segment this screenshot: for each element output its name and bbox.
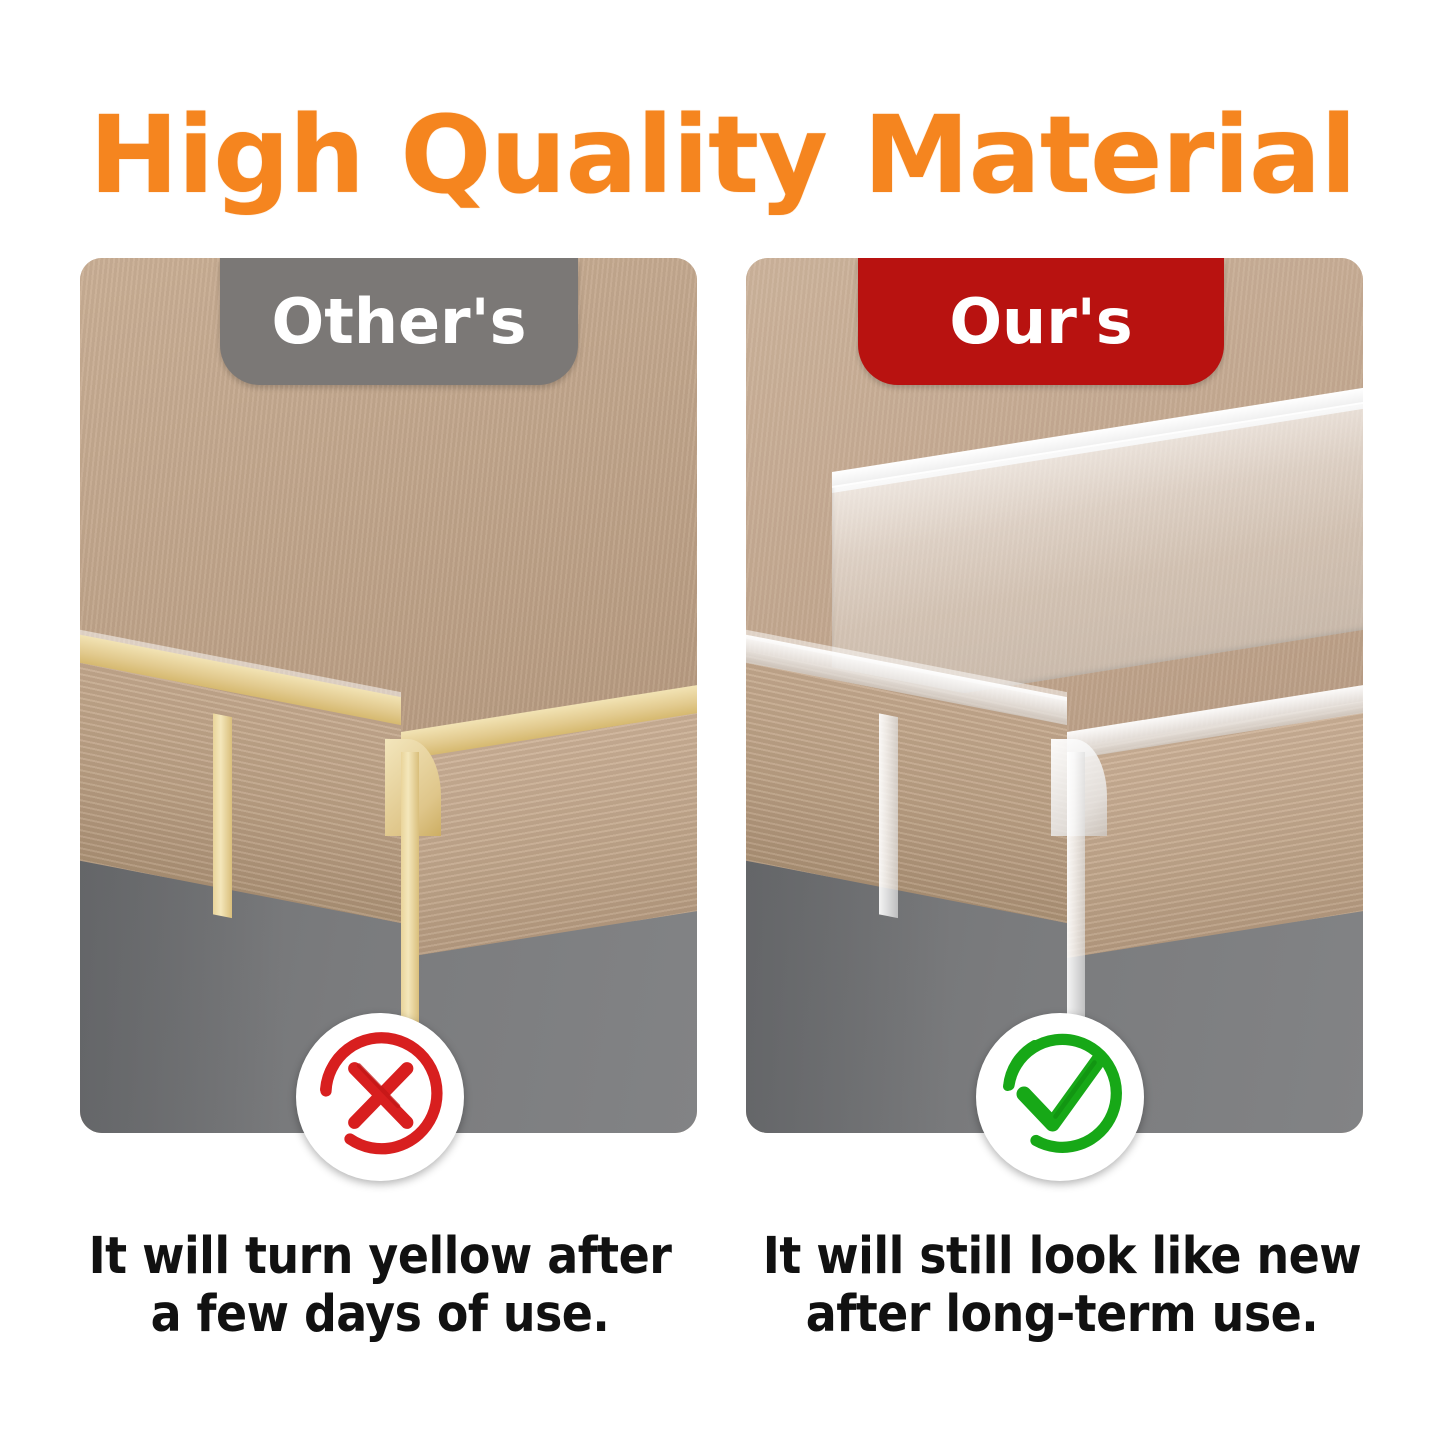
page-title: High Quality Material bbox=[0, 96, 1445, 216]
comparison-section: Other's Our's bbox=[80, 258, 1363, 1133]
caption-other-line1: It will turn yellow after bbox=[89, 1227, 672, 1286]
comparison-panel-our: Our's bbox=[746, 258, 1363, 1133]
check-icon bbox=[985, 1022, 1135, 1172]
caption-our: It will still look like new after long-t… bbox=[752, 1228, 1372, 1344]
caption-our-line1: It will still look like new bbox=[763, 1227, 1361, 1286]
caption-other: It will turn yellow after a few days of … bbox=[70, 1228, 690, 1344]
comparison-panel-other: Other's bbox=[80, 258, 697, 1133]
product-photo-our bbox=[746, 258, 1363, 1133]
caption-our-line2: after long-term use. bbox=[752, 1286, 1372, 1344]
verdict-badge-positive bbox=[976, 1013, 1144, 1181]
product-photo-other bbox=[80, 258, 697, 1133]
caption-other-line2: a few days of use. bbox=[70, 1286, 690, 1344]
badge-other: Other's bbox=[220, 258, 578, 385]
verdict-badge-negative bbox=[296, 1013, 464, 1181]
badge-our: Our's bbox=[858, 258, 1224, 385]
edge-protector-front bbox=[879, 714, 898, 919]
cross-icon bbox=[305, 1022, 455, 1172]
edge-protector-front bbox=[213, 714, 232, 919]
